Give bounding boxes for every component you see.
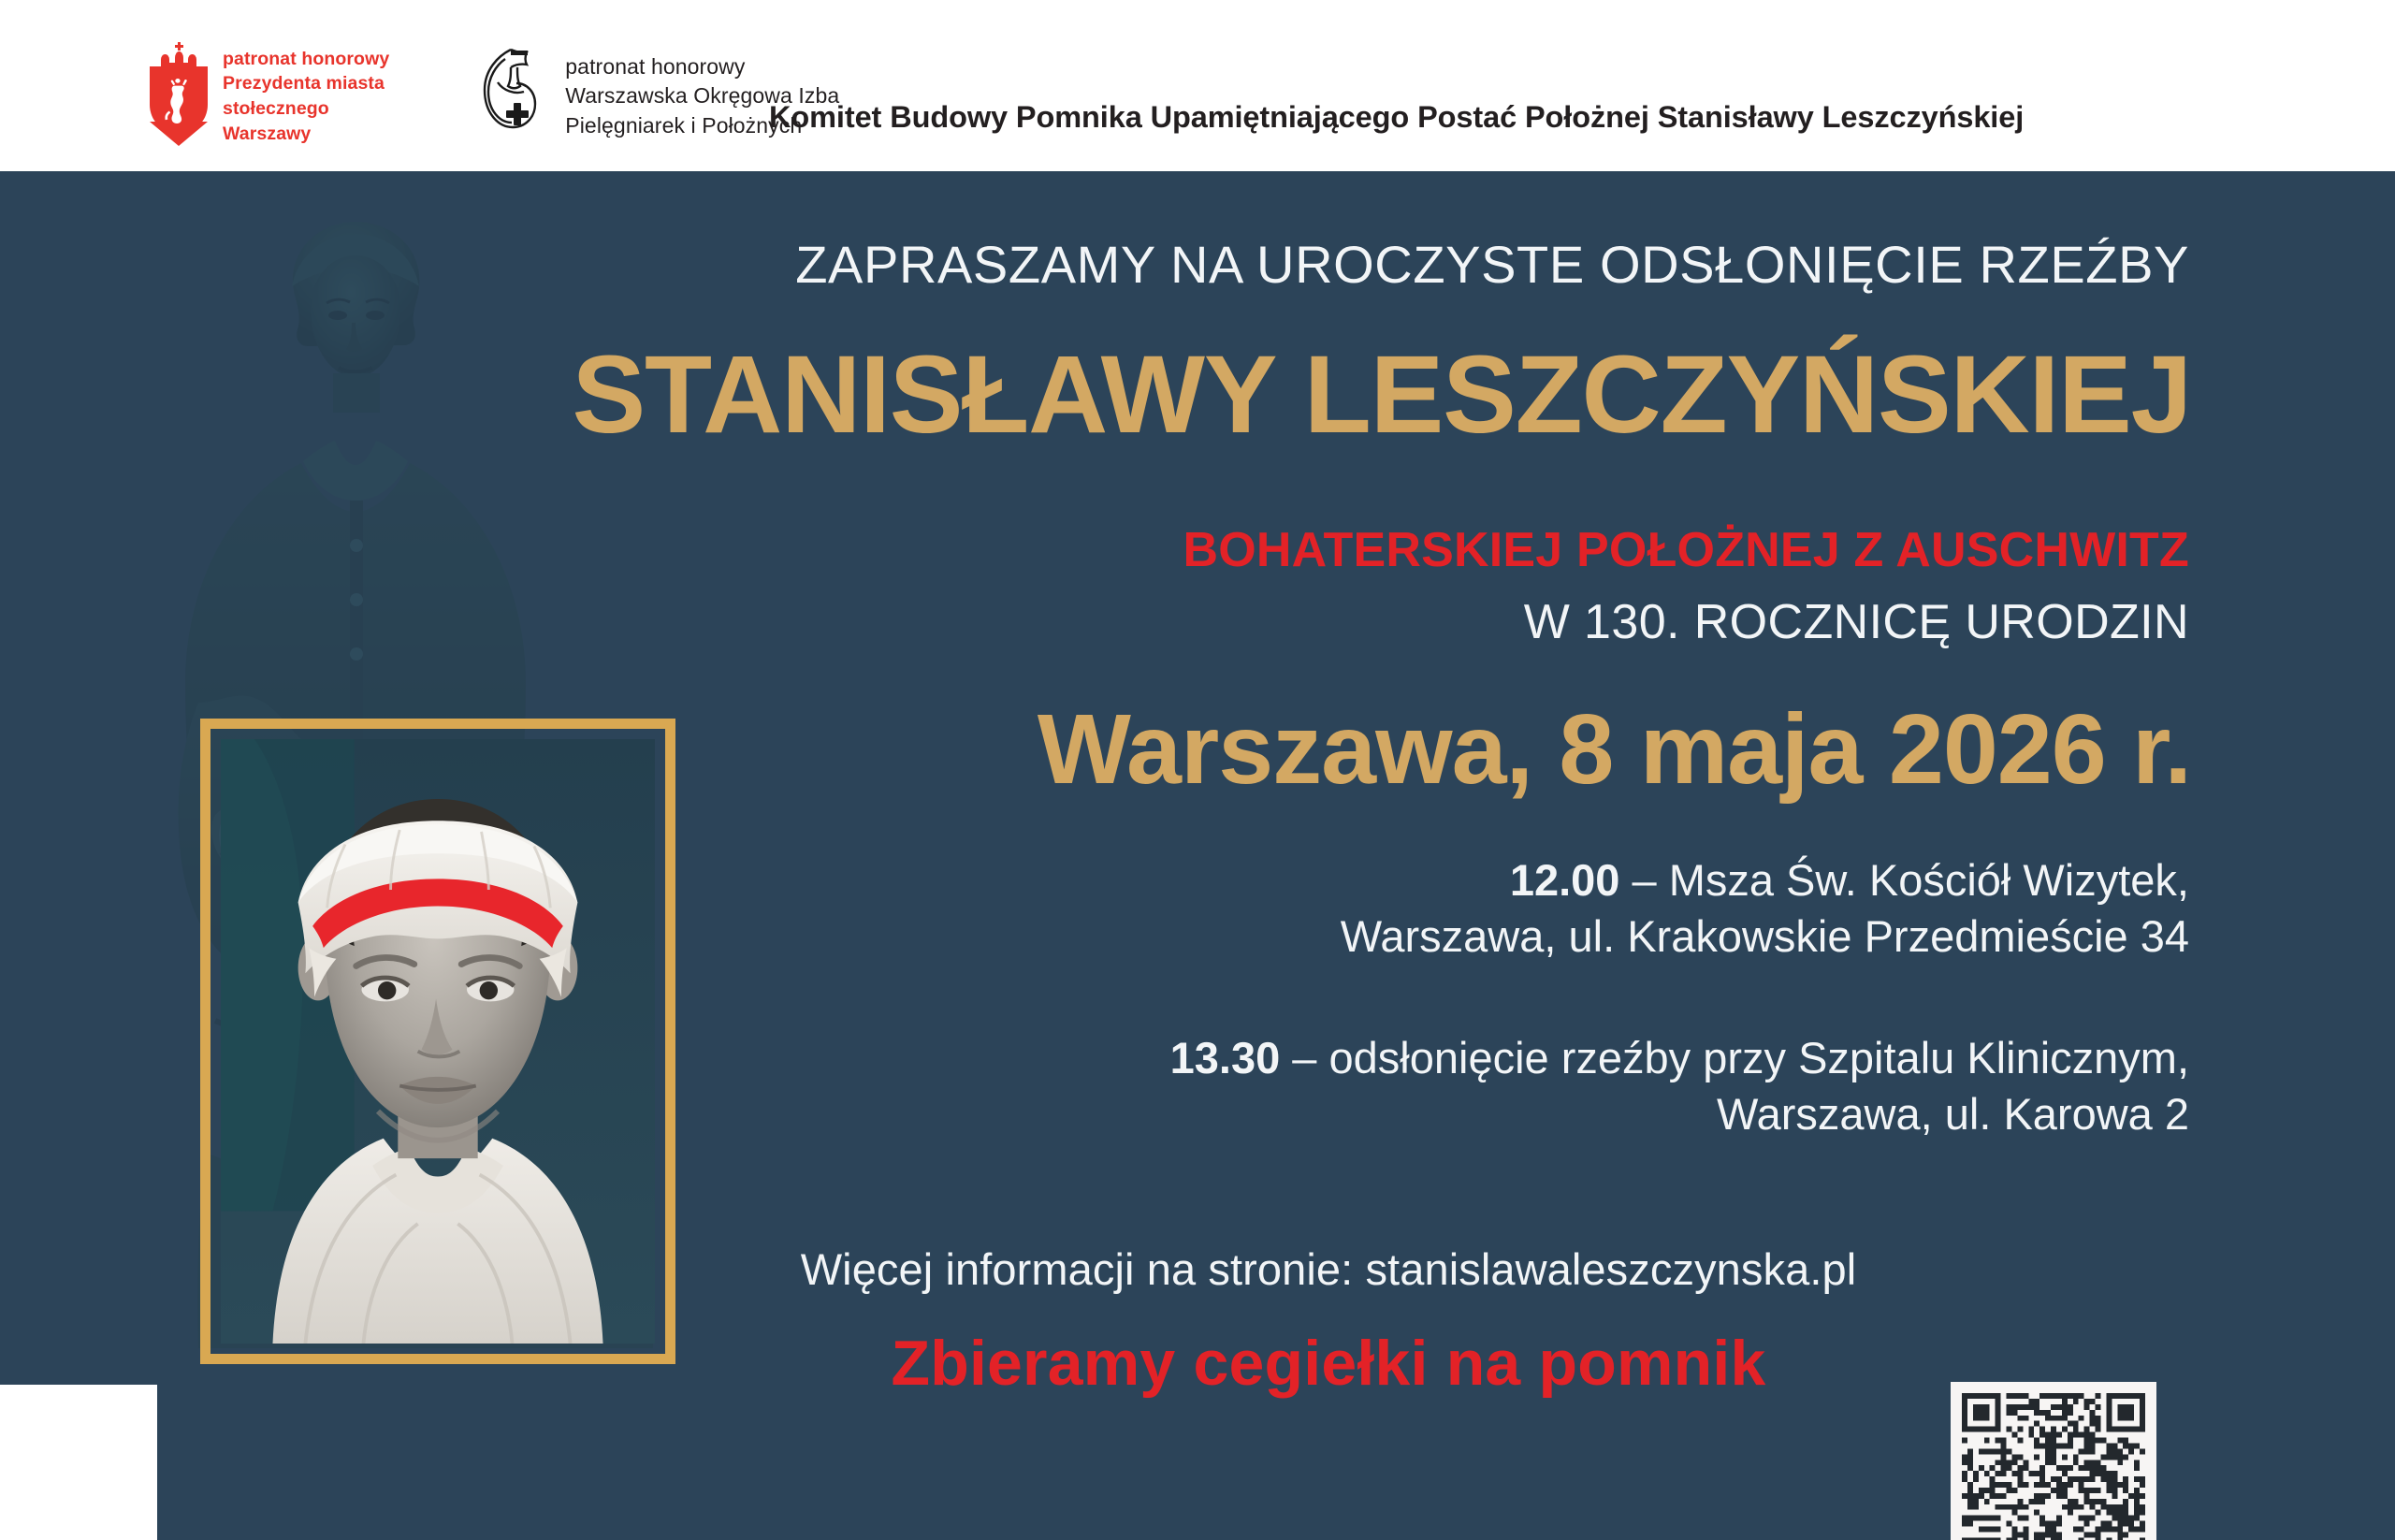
bottom-left-white-corner [0, 1385, 157, 1540]
schedule-dash: – [1619, 855, 1668, 905]
patronage-warsaw-city-label: patronat honorowy Prezydenta miasta stoł… [223, 47, 389, 146]
event-date: Warszawa, 8 maja 2026 r. [1038, 700, 2191, 799]
portrait-frame [200, 719, 675, 1364]
anniversary-line: W 130. ROCZNICĘ URODZIN [1524, 594, 2189, 650]
poster-text-column: ZAPRASZAMY NA UROCZYSTE ODSŁONIĘCIE RZEŹ… [711, 171, 2301, 1540]
logo-line: stołecznego [223, 96, 389, 122]
patronage-nurses-chamber: patronat honorowy Warszawska Okręgowa Iz… [470, 41, 839, 152]
honoree-name: STANISŁAWY LESZCZYŃSKIEJ [573, 340, 2191, 450]
honoree-subtitle: BOHATERSKIEJ POŁOŻNEJ Z AUSCHWITZ [1183, 522, 2189, 578]
poster-body: ZAPRASZAMY NA UROCZYSTE ODSŁONIĘCIE RZEŹ… [0, 171, 2395, 1540]
schedule-address: Warszawa, ul. Karowa 2 [1170, 1086, 2189, 1142]
schedule-address: Warszawa, ul. Krakowskie Przedmieście 34 [1341, 908, 2189, 965]
patronage-logos: patronat honorowy Prezydenta miasta stoł… [150, 41, 839, 152]
website-line: Więcej informacji na stronie: stanislawa… [711, 1243, 1946, 1295]
schedule-description: Msza Św. Kościół Wizytek, [1669, 855, 2189, 905]
logo-line: patronat honorowy [565, 52, 839, 81]
schedule-item: 12.00 – Msza Św. Kościół Wizytek, Warsza… [1341, 852, 2189, 965]
schedule-time: 12.00 [1510, 855, 1620, 905]
stanislawa-leszczynska-portrait [221, 739, 655, 1344]
invitation-line: ZAPRASZAMY NA UROCZYSTE ODSŁONIĘCIE RZEŹ… [795, 234, 2189, 295]
warsaw-mermaid-icon [159, 75, 198, 127]
warsaw-city-crest-icon [150, 41, 208, 152]
schedule-description: odsłonięcie rzeźby przy Szpitalu Klinicz… [1329, 1033, 2189, 1082]
logo-line: patronat honorowy [223, 47, 389, 72]
poster-header: patronat honorowy Prezydenta miasta stoł… [0, 0, 2395, 171]
patronage-warsaw-city: patronat honorowy Prezydenta miasta stoł… [150, 41, 389, 152]
qr-code[interactable] [1951, 1382, 2156, 1540]
schedule-item: 13.30 – odsłonięcie rzeźby przy Szpitalu… [1170, 1030, 2189, 1142]
logo-line: Warszawy [223, 122, 389, 147]
poster-root: patronat honorowy Prezydenta miasta stoł… [0, 0, 2395, 1540]
schedule-time: 13.30 [1170, 1033, 1281, 1082]
schedule-dash: – [1280, 1033, 1328, 1082]
schedule-item-first-row: 12.00 – Msza Św. Kościół Wizytek, [1341, 852, 2189, 908]
nurse-midwife-emblem-icon [470, 41, 550, 152]
committee-title: Komitet Budowy Pomnika Upamiętniającego … [769, 100, 2024, 135]
schedule-item-first-row: 13.30 – odsłonięcie rzeźby przy Szpitalu… [1170, 1030, 2189, 1086]
logo-line: Prezydenta miasta [223, 71, 389, 96]
call-to-action: Zbieramy cegiełki na pomnik [711, 1327, 1946, 1400]
